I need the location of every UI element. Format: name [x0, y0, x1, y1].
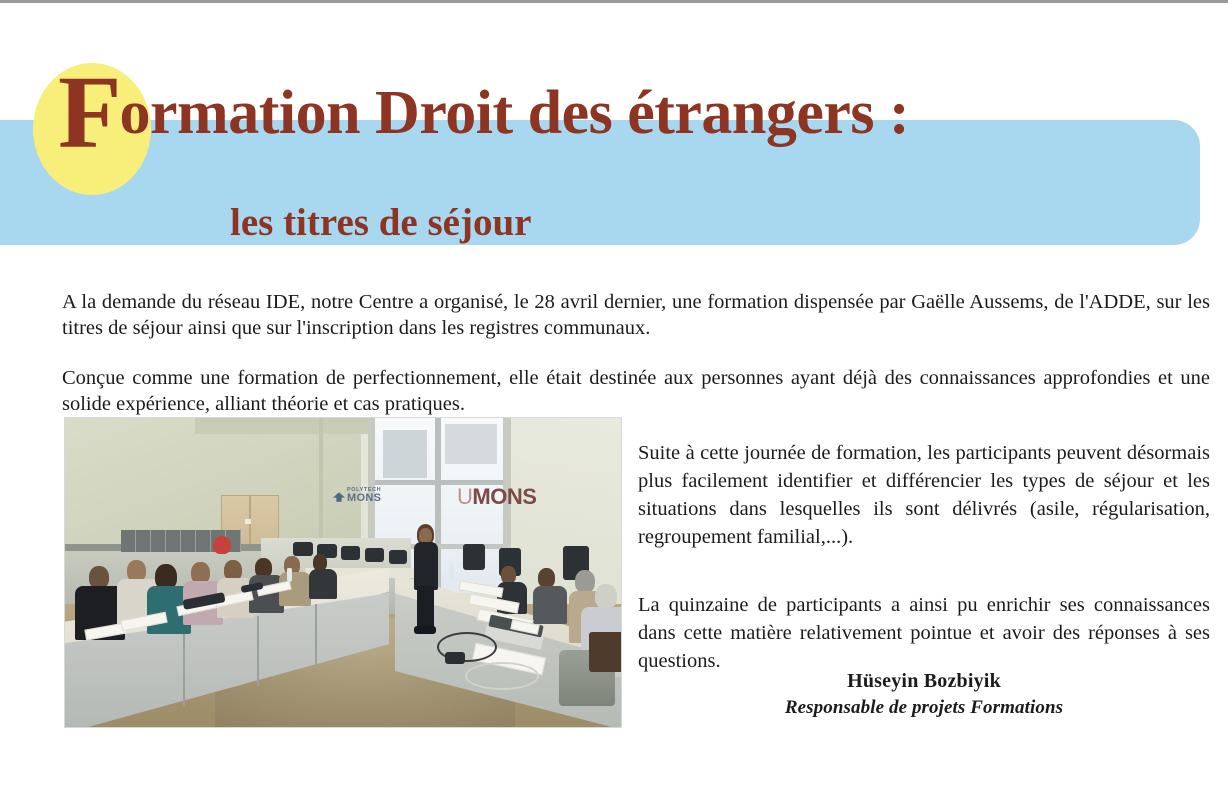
photo-bottle: [449, 564, 454, 579]
photo-table-panel-seam: [315, 604, 317, 668]
photo-cable: [465, 662, 539, 690]
photo-participant-head: [595, 584, 617, 609]
photo-speaker-body: [414, 542, 438, 590]
photo-speaker-shoes: [414, 626, 436, 634]
photo-chair: [365, 548, 384, 562]
umons-logo: UMONS: [457, 484, 536, 510]
polytech-logo-bottom: MONS: [347, 493, 405, 504]
photo-participant-head: [538, 568, 555, 588]
photo-participant-body: [309, 569, 337, 599]
photo-chair: [389, 550, 407, 564]
photo-table-panel-seam: [183, 632, 185, 706]
photo-window-view-building: [383, 430, 427, 478]
page-subtitle: les titres de séjour: [230, 200, 531, 245]
paragraph-outcome: Suite à cette journée de formation, les …: [638, 439, 1210, 552]
page-title: Formation Droit des étrangers :: [58, 71, 1198, 154]
polytech-mark-icon: [333, 491, 345, 503]
photo-folder: [151, 530, 166, 552]
photo-red-object: [213, 536, 231, 554]
page-top-rule: [0, 0, 1228, 3]
photo-speaker-legs: [417, 586, 434, 630]
photo-folder-row: [121, 530, 253, 552]
photo-table-panel-seam: [257, 616, 259, 686]
paragraph-feedback: La quinzaine de participants a ainsi pu …: [638, 591, 1210, 676]
photo-window-view-building-2: [445, 424, 497, 464]
photo-chair: [463, 544, 485, 570]
photo-participant-head: [575, 570, 595, 593]
photo-dark-object: [445, 652, 465, 664]
photo-dark-object: [589, 632, 622, 672]
photo-participant-body: [533, 586, 567, 624]
polytech-mons-logo: POLYTECH MONS: [333, 487, 405, 513]
signature-role: Responsable de projets Formations: [638, 697, 1210, 719]
title-rest: ormation Droit des étrangers :: [120, 79, 910, 147]
paragraph-intro: A la demande du réseau IDE, notre Centre…: [62, 289, 1210, 342]
umons-logo-mons: MONS: [472, 484, 536, 509]
photo-folder: [181, 530, 196, 552]
photo-cabinet-knob: [245, 519, 251, 524]
photo-folder: [121, 530, 136, 552]
photo-chair: [341, 546, 360, 560]
title-dropcap: F: [58, 55, 120, 170]
training-session-photo: POLYTECH MONS UMONS: [64, 417, 622, 728]
signature-name: Hüseyin Bozbiyik: [638, 670, 1210, 693]
photo-folder: [196, 530, 211, 552]
umons-logo-u: U: [457, 484, 472, 509]
paragraph-design: Conçue comme une formation de perfection…: [62, 365, 1210, 418]
photo-folder: [136, 530, 151, 552]
photo-bottle: [287, 568, 292, 582]
photo-ceiling-beam: [195, 418, 375, 434]
photo-chair: [293, 542, 313, 556]
photo-folder: [166, 530, 181, 552]
article-header: Formation Droit des étrangers : les titr…: [0, 55, 1228, 255]
